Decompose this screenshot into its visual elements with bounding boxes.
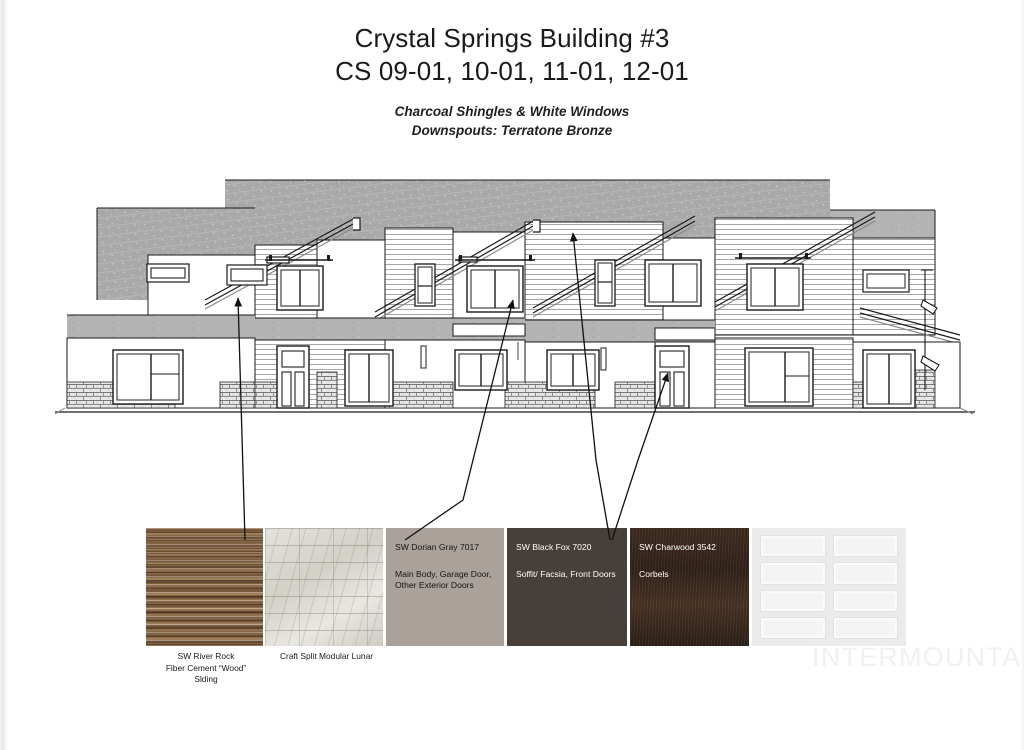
swatch-stone [265, 528, 383, 646]
swatch-dorian-gray-name: SW Dorian Gray 7017 [395, 542, 498, 553]
garage-panel [760, 562, 826, 584]
page-title-line-2: CS 09-01, 10-01, 11-01, 12-01 [0, 54, 1024, 88]
title-block: Crystal Springs Building #3 CS 09-01, 10… [0, 22, 1024, 140]
watermark: INTERMOUNTAIN [812, 642, 1024, 673]
swatch-dorian-gray-usage: Main Body, Garage Door, Other Exterior D… [395, 569, 498, 591]
subtitle-line-1: Charcoal Shingles & White Windows [0, 102, 1024, 121]
material-swatch-row: SW Dorian Gray 7017 Main Body, Garage Do… [146, 528, 906, 646]
garage-panel [833, 617, 899, 639]
swatch-wood-siding-caption-line-3: Slding [146, 674, 266, 686]
front-elevation-drawing [55, 160, 975, 430]
swatch-black-fox-label: SW Black Fox 7020 Soffit/ Facsia, Front … [516, 542, 621, 580]
swatch-black-fox-usage: Soffit/ Facsia, Front Doors [516, 569, 621, 580]
swatch-charwood: SW Charwood 3542 Corbels [630, 528, 749, 646]
garage-panel [833, 535, 899, 557]
swatch-black-fox: SW Black Fox 7020 Soffit/ Facsia, Front … [507, 528, 627, 646]
swatch-wood-siding [146, 528, 263, 646]
swatch-charwood-name: SW Charwood 3542 [639, 542, 743, 553]
document-page: Crystal Springs Building #3 CS 09-01, 10… [0, 0, 1024, 750]
garage-door-panel-grid [760, 535, 898, 639]
ground-line [55, 408, 975, 414]
page-title-line-1: Crystal Springs Building #3 [0, 22, 1024, 54]
subtitle-block: Charcoal Shingles & White Windows Downsp… [0, 102, 1024, 140]
swatch-charwood-label: SW Charwood 3542 Corbels [639, 542, 743, 580]
swatch-dorian-gray: SW Dorian Gray 7017 Main Body, Garage Do… [386, 528, 504, 646]
garage-panel [833, 590, 899, 612]
swatch-charwood-usage: Corbels [639, 569, 743, 580]
swatch-dorian-gray-label: SW Dorian Gray 7017 Main Body, Garage Do… [395, 542, 498, 591]
swatch-wood-siding-caption: SW River Rock Fiber Cement “Wood” Slding [146, 651, 266, 686]
swatch-garage-door [752, 528, 906, 646]
garage-panel [833, 562, 899, 584]
garage-panel [760, 535, 826, 557]
garage-panel [760, 617, 826, 639]
subtitle-line-2: Downspouts: Terratone Bronze [0, 121, 1024, 140]
swatch-stone-caption: Craft Split Modular Lunar [264, 651, 389, 663]
swatch-wood-siding-caption-line-1: SW River Rock [146, 651, 266, 663]
swatch-wood-siding-caption-line-2: Fiber Cement “Wood” [146, 663, 266, 675]
swatch-black-fox-name: SW Black Fox 7020 [516, 542, 621, 553]
garage-panel [760, 590, 826, 612]
swatch-stone-caption-line-1: Craft Split Modular Lunar [264, 651, 389, 663]
